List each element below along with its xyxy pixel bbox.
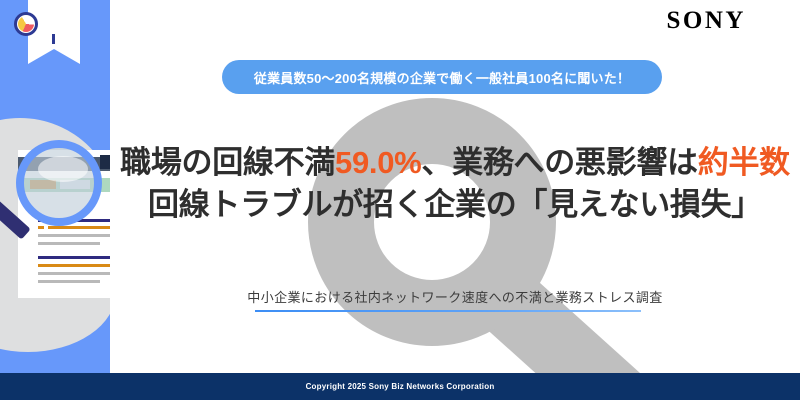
document-header-band-accent: [100, 155, 110, 169]
survey-banner-text: 従業員数50〜200名規模の企業で働く一般社員100名に聞いた！: [254, 68, 630, 87]
headline-line-2: 回線トラブルが招く企業の「見えない損失」: [110, 184, 800, 226]
sony-logo: SONY: [667, 8, 746, 33]
document-line-orange-tick: [38, 226, 44, 229]
headline-line1-part2: 、業務への悪影響は: [421, 145, 697, 180]
survey-banner-pill: 従業員数50〜200名規模の企業で働く一般社員100名に聞いた！: [222, 60, 662, 94]
headline-stat-half: 約半数: [698, 145, 790, 180]
document-line-gray-2: [38, 242, 100, 245]
headline-line1-part1: 職場の回線不満: [120, 145, 335, 180]
document-line-orange-1: [48, 226, 110, 229]
headline-stat-percent: 59.0%: [335, 145, 421, 180]
document-line-gray-3: [38, 272, 110, 275]
bookmark-ribbon-icon: [28, 0, 80, 64]
pie-chart-icon: [18, 16, 34, 32]
magnifying-glass-icon: [16, 140, 102, 226]
slide-canvas: SONY 従業員数50〜200名規模の企業で働く一般社員100名に聞いた！ 職場…: [0, 0, 800, 400]
document-line-navy-2: [38, 256, 110, 259]
subtitle-underline: [255, 310, 641, 312]
lens-gloss: [38, 156, 88, 182]
document-line-gray-4: [38, 280, 100, 283]
document-line-gray-1: [38, 234, 110, 237]
copyright-text: Copyright 2025 Sony Biz Networks Corpora…: [306, 382, 495, 391]
page-title: 職場の回線不満59.0%、業務への悪影響は約半数 回線トラブルが招く企業の「見え…: [110, 142, 800, 225]
page-subtitle: 中小企業における社内ネットワーク速度への不満と業務ストレス調査: [110, 287, 800, 306]
footer-bar: Copyright 2025 Sony Biz Networks Corpora…: [0, 373, 800, 400]
left-illustration-panel: [0, 0, 110, 373]
ribbon-magnifier-stem-icon: [52, 34, 55, 44]
headline-line-1: 職場の回線不満59.0%、業務への悪影響は約半数: [110, 142, 800, 184]
document-line-orange-2: [38, 264, 110, 267]
